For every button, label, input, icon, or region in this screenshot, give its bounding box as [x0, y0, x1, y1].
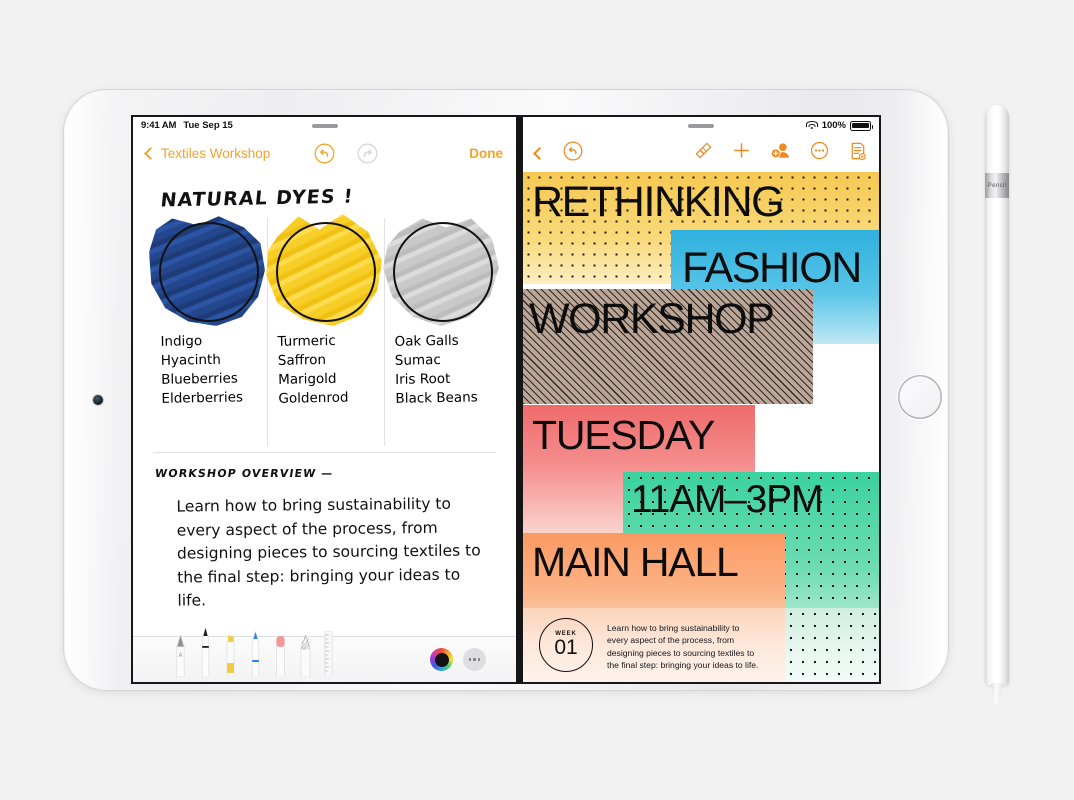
- redo-icon[interactable]: [357, 143, 378, 164]
- more-tools-button[interactable]: [463, 648, 486, 671]
- swatch-outline: [276, 222, 376, 322]
- undo-icon[interactable]: [563, 141, 583, 166]
- pages-app-pane: 100%: [523, 117, 879, 682]
- poster-footer-dots: [785, 608, 879, 682]
- more-ellipsis-icon[interactable]: [810, 141, 829, 165]
- marker-tool[interactable]: [248, 629, 263, 682]
- dye-column: Oak Galls Sumac Iris Root Black Beans: [384, 218, 501, 446]
- dye-list: Turmeric Saffron Marigold Goldenrod: [275, 331, 376, 409]
- dye-columns: Indigo Hyacinth Blueberries Elderberries: [151, 218, 498, 446]
- front-camera: [93, 395, 103, 405]
- dye-list: Oak Galls Sumac Iris Root Black Beans: [392, 331, 493, 409]
- back-chevron-icon[interactable]: [533, 147, 546, 160]
- add-collaborator-icon[interactable]: [770, 141, 791, 165]
- ruler-tool[interactable]: [323, 631, 338, 682]
- undo-icon[interactable]: [314, 143, 335, 164]
- poster-text-tuesday: TUESDAY: [532, 412, 714, 459]
- done-button[interactable]: Done: [469, 146, 503, 161]
- poster-document[interactable]: RETHINKING FASHION WORKSHOP TUESDAY 11AM…: [523, 172, 879, 682]
- back-button-label: Textiles Workshop: [161, 146, 270, 161]
- poster-footer: WEEK 01 Learn how to bring sustainabilit…: [523, 608, 879, 682]
- swatch-outline: [159, 222, 259, 322]
- poster-block-workshop[interactable]: WORKSHOP: [523, 289, 813, 404]
- pencil-tip: [991, 683, 1003, 705]
- dye-swatch-oak-galls: [393, 222, 493, 322]
- pencil-engraving-band: Pencil: [985, 173, 1009, 198]
- poster-text-workshop: WORKSHOP: [529, 295, 773, 344]
- back-to-textiles-workshop-button[interactable]: Textiles Workshop: [146, 146, 270, 161]
- poster-text-rethinking: RETHINKING: [532, 178, 783, 227]
- footer-line: the final step: bringing your ideas to l…: [607, 659, 797, 671]
- svg-text:A: A: [178, 653, 182, 659]
- poster-footer-text: Learn how to bring sustainability to eve…: [607, 622, 797, 672]
- notes-canvas[interactable]: NATURAL DYES ! Indigo Hyacinth Blueberri…: [133, 172, 516, 682]
- split-view-divider[interactable]: [516, 117, 523, 682]
- note-title: NATURAL DYES !: [159, 182, 499, 211]
- dot: [478, 658, 481, 661]
- swatch-outline: [393, 222, 493, 322]
- shader-tool[interactable]: [298, 633, 313, 682]
- notes-toolbar: Textiles Workshop: [133, 134, 516, 172]
- dye-column: Turmeric Saffron Marigold Goldenrod: [267, 218, 384, 446]
- dot: [473, 658, 476, 661]
- apple-pencil: Pencil: [985, 105, 1009, 685]
- dye-column: Indigo Hyacinth Blueberries Elderberries: [151, 218, 267, 446]
- multitask-grabber-notes[interactable]: [312, 124, 338, 128]
- pencil-tool[interactable]: A: [173, 633, 188, 682]
- pen-tool[interactable]: [198, 627, 213, 682]
- scene: 9:41 AM Tue Sep 15 Textiles Workshop: [0, 0, 1074, 800]
- status-date: Tue Sep 15: [183, 120, 232, 131]
- battery-full-icon: [850, 121, 871, 131]
- document-options-icon[interactable]: [848, 141, 867, 166]
- workshop-overview-label: WORKSHOP OVERVIEW —: [154, 467, 499, 480]
- footer-line: Learn how to bring sustainability to: [607, 622, 797, 634]
- battery-percent-label: 100%: [822, 120, 846, 131]
- week-badge-number: 01: [554, 637, 577, 659]
- status-time: 9:41 AM: [141, 120, 176, 131]
- pages-status-bar: 100%: [523, 117, 879, 134]
- poster-text-fashion: FASHION: [682, 244, 861, 293]
- notes-app-pane: 9:41 AM Tue Sep 15 Textiles Workshop: [133, 117, 516, 682]
- notes-status-bar: 9:41 AM Tue Sep 15: [133, 117, 516, 134]
- multitask-grabber-pages[interactable]: [688, 124, 714, 128]
- pages-toolbar: [523, 134, 879, 172]
- poster-text-time: 11AM–3PM: [631, 478, 822, 522]
- footer-line: every aspect of the process, from: [607, 634, 797, 646]
- week-badge: WEEK 01: [539, 618, 593, 672]
- plus-icon[interactable]: [732, 141, 751, 165]
- wifi-icon: [806, 121, 818, 130]
- dye-swatch-indigo: [159, 222, 259, 322]
- pencil-engraving-text: Pencil: [988, 182, 1007, 189]
- section-divider: [153, 452, 496, 453]
- chevron-left-icon: [144, 147, 157, 160]
- eraser-tool[interactable]: [273, 635, 288, 682]
- poster-text-main-hall: MAIN HALL: [532, 539, 738, 586]
- dye-swatch-turmeric: [276, 222, 376, 322]
- paintbrush-icon[interactable]: [694, 141, 713, 165]
- dot: [469, 658, 472, 661]
- markup-tool-palette[interactable]: A: [133, 636, 516, 682]
- highlighter-tool[interactable]: [223, 633, 238, 682]
- dye-list: Indigo Hyacinth Blueberries Elderberries: [158, 331, 259, 409]
- workshop-overview-body: Learn how to bring sustainability to eve…: [176, 492, 482, 613]
- footer-line: designing pieces to sourcing textiles to: [607, 647, 797, 659]
- ipad-screen: 9:41 AM Tue Sep 15 Textiles Workshop: [133, 117, 879, 682]
- color-wheel-button[interactable]: [430, 648, 453, 671]
- home-button[interactable]: [898, 375, 942, 419]
